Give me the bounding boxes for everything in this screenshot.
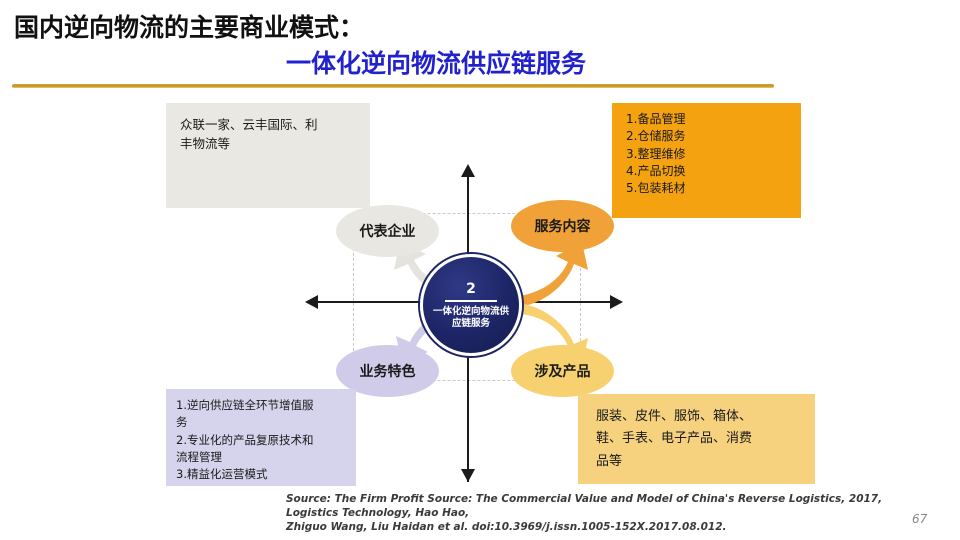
- quadrant-label-products[interactable]: 涉及产品: [511, 345, 614, 397]
- page-number: 67: [912, 512, 927, 526]
- content-box-enterprises: 众联一家、云丰国际、利 丰物流等: [166, 103, 370, 208]
- page-title: 国内逆向物流的主要商业模式：: [14, 8, 364, 44]
- content-box-services: 1.备品管理 2.仓储服务 3.整理维修 4.产品切换 5.包装耗材: [612, 103, 801, 218]
- title-divider-rule: [12, 84, 774, 88]
- axis-arrow-down-icon: [461, 469, 475, 482]
- content-line: 1.逆向供应链全环节增值服: [176, 397, 346, 414]
- content-line: 5.包装耗材: [626, 180, 787, 197]
- axis-arrow-left-icon: [305, 295, 318, 309]
- quadrant-label-features-text: 业务特色: [360, 361, 416, 381]
- content-line: 1.备品管理: [626, 111, 787, 128]
- axis-arrow-up-icon: [461, 164, 475, 177]
- content-line: 服装、皮件、服饰、箱体、: [596, 406, 797, 428]
- content-line: 流程管理: [176, 449, 346, 466]
- quadrant-label-products-text: 涉及产品: [535, 361, 591, 381]
- source-citation-line: Zhiguo Wang, Liu Haidan et al. doi:10.39…: [286, 520, 886, 534]
- quadrant-label-enterprises-text: 代表企业: [360, 221, 416, 241]
- content-line: 品等: [596, 451, 797, 473]
- content-line: 3.精益化运营模式: [176, 466, 346, 483]
- source-citation: Source: The Firm Profit Source: The Comm…: [286, 492, 886, 535]
- content-line: 鞋、手表、电子产品、消费: [596, 428, 797, 450]
- content-box-features: 1.逆向供应链全环节增值服 务 2.专业化的产品复原技术和 流程管理 3.精益化…: [166, 389, 356, 486]
- quadrant-label-services[interactable]: 服务内容: [511, 200, 614, 252]
- center-model-number: 2: [466, 282, 476, 296]
- center-model-circle[interactable]: 2 一体化逆向物流供应链服务: [420, 254, 522, 356]
- quadrant-label-enterprises[interactable]: 代表企业: [336, 205, 439, 257]
- content-box-products: 服装、皮件、服饰、箱体、 鞋、手表、电子产品、消费 品等: [578, 394, 815, 484]
- content-line: 务: [176, 414, 346, 431]
- content-line: 丰物流等: [180, 134, 356, 153]
- slide-canvas: 国内逆向物流的主要商业模式： 一体化逆向物流供应链服务 代表企业 服务内容 业务…: [0, 0, 960, 540]
- center-model-label: 一体化逆向物流供应链服务: [431, 306, 511, 330]
- center-divider: [445, 300, 497, 302]
- content-line: 2.专业化的产品复原技术和: [176, 432, 346, 449]
- source-citation-line: Source: The Firm Profit Source: The Comm…: [286, 492, 886, 520]
- quadrant-label-services-text: 服务内容: [535, 216, 591, 236]
- content-line: 2.仓储服务: [626, 128, 787, 145]
- content-line: 4.产品切换: [626, 163, 787, 180]
- content-line: 3.整理维修: [626, 146, 787, 163]
- content-line: 众联一家、云丰国际、利: [180, 115, 356, 134]
- page-subtitle: 一体化逆向物流供应链服务: [286, 44, 586, 80]
